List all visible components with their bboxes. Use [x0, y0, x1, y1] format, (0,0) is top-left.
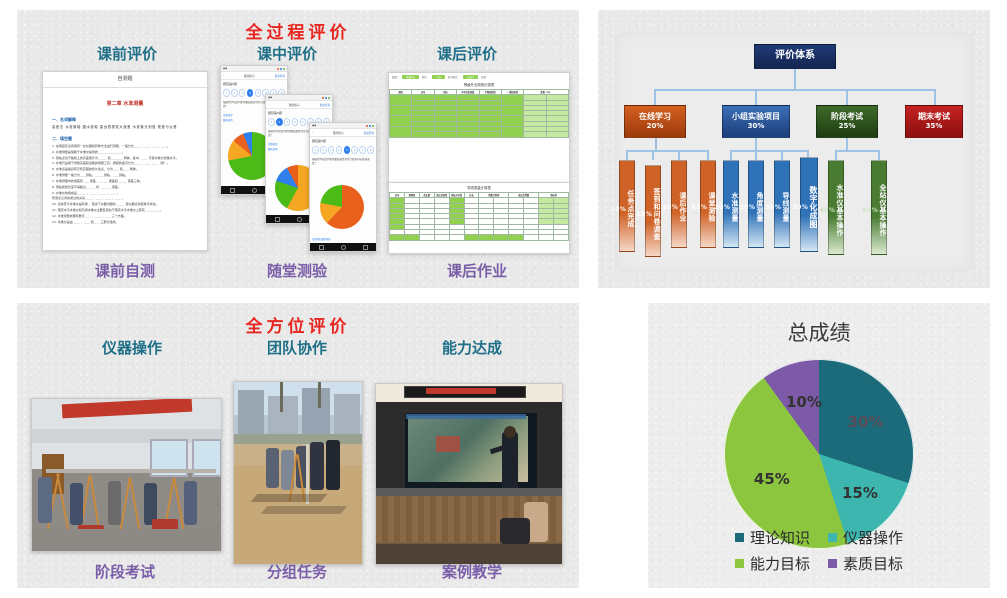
connector-group-d3 [781, 150, 783, 160]
phone-home-key-icon[interactable] [252, 188, 257, 193]
connector-group-stem [755, 138, 757, 150]
node-percent: 10% [663, 205, 679, 211]
node-percent: 25% [839, 122, 856, 131]
subhead-capability-achievement: 能力达成 [392, 337, 552, 358]
option-d[interactable]: 4 [292, 118, 299, 126]
node-percent: 10% [611, 207, 627, 213]
label-pre-class-selftest: 课前自测 [42, 260, 208, 281]
phone-submit-link[interactable]: 提交答卷 [320, 103, 330, 107]
sheet-label-name: 姓名： [422, 75, 429, 79]
node-label: 任务点完成 [626, 190, 634, 228]
legend-item-theory[interactable]: 理论知识 [735, 527, 810, 548]
node-label: 阶段考试 [831, 112, 863, 122]
node-label: 全站仪基本操作 [878, 184, 886, 237]
phone-back-icon[interactable]: ‹ [268, 103, 269, 106]
document-item: 5. 水准点是指具有已知高程的永久性点，分为＿＿ 和＿＿ 两种。 [52, 167, 198, 172]
node-label: 小组实验项目 [732, 112, 780, 122]
phone-option-nums[interactable]: 1 2 3 4 5 6 7 8 [310, 145, 376, 156]
phone-back-key-icon[interactable] [230, 188, 235, 193]
node-percent: 30% [766, 205, 782, 211]
connector-online-d2 [652, 150, 654, 160]
document-item: 8. 测站视线长度不得超过＿＿＿ 米，＿＿＿ 误差。 [52, 185, 198, 190]
option-e[interactable]: 5 [344, 146, 351, 154]
option-e[interactable]: 5 [300, 118, 307, 126]
document-item: 2. 水准测量是借助于水准仪提供的＿＿＿＿＿＿＿＿。 [52, 150, 198, 155]
phone-result-pie-3 [320, 185, 364, 229]
document-item: 所测点之间的通过的关系＿＿ ，＿＿ ，＿＿ ，＿＿ 。 [52, 196, 198, 201]
sheet-value-name[interactable]: 小张 [432, 75, 445, 79]
option-e[interactable]: 5 [255, 89, 262, 97]
option-f[interactable]: 6 [351, 146, 358, 154]
node-label: 角度测量 [755, 192, 763, 222]
label-stage-exam: 阶段考试 [37, 561, 213, 582]
phone-quiz-screen-3[interactable]: ●● ‹ 随堂练习 提交答卷 题目第5题 1 2 3 4 5 6 7 8 根据所… [309, 122, 377, 252]
phone-home-key-icon[interactable] [297, 217, 302, 222]
document-item: 9. 水准仪的组成是＿＿＿ ，＿＿ ，＿＿ ，＿＿ 。 [52, 191, 198, 196]
phone-question-label: 题目第5题 [221, 80, 287, 88]
option-a[interactable]: 1 [223, 89, 230, 97]
legend-row: 理论知识 仪器操作 [735, 527, 903, 548]
node-label: 课后作业 [678, 192, 686, 222]
label-in-class-quiz: 随堂测验 [217, 260, 377, 281]
node-angle-survey[interactable]: 角度测量 20% [748, 160, 764, 248]
node-leveling-survey[interactable]: 水准测量 20% [723, 160, 739, 248]
connector-online-d4 [707, 150, 709, 160]
label-group-task: 分组任务 [217, 561, 377, 582]
connector-online-bus [626, 150, 708, 152]
panel-allround-evaluation: 全方位评价 仪器操作 团队协作 能力达成 [17, 303, 579, 588]
option-c[interactable]: 3 [239, 89, 246, 97]
connector-drop-3 [846, 89, 848, 105]
node-percent: 40% [820, 208, 836, 214]
legend-label: 理论知识 [750, 527, 810, 548]
option-b[interactable]: 2 [276, 118, 283, 126]
sheet-label-date: 日期： [481, 75, 488, 79]
legend-swatch-icon [828, 559, 837, 568]
legend-swatch-icon [828, 533, 837, 542]
connector-group-d2 [755, 150, 757, 160]
panel-process-evaluation: 全过程评价 课前评价 课中评价 课后评价 自测题 第二章 水准测量 一、名词解释… [17, 10, 579, 288]
connector-root-vertical [794, 69, 796, 89]
connector-group-bus [730, 150, 808, 152]
sheet-label-class: 班级： [392, 75, 399, 79]
node-label: 数字化成图 [808, 186, 817, 229]
subhead-pre-class: 课前评价 [47, 43, 207, 64]
document-item: 11. 限定水平水准仪和普通水准仪主要区别在于限定水平水准仪上装有＿＿＿＿＿。 [52, 208, 198, 213]
phone-detail-link[interactable]: 全部测验成绩明细> [312, 237, 331, 241]
option-d[interactable]: 4 [247, 89, 254, 97]
sheet-title-2: 导线测量计算表 [389, 183, 569, 192]
connector-drop-2 [755, 89, 757, 105]
option-b[interactable]: 2 [320, 146, 327, 154]
node-homework[interactable]: 课后作业 10% [671, 160, 687, 248]
node-final-exam[interactable]: 期末考试 35% [905, 105, 963, 138]
phone-nav-bar[interactable]: ‹ 随堂练习 提交答卷 [266, 101, 332, 109]
chart-title: 总成绩 [648, 317, 990, 347]
th: 坐标方位角 [449, 193, 464, 198]
connector-stage-d1 [835, 150, 837, 160]
node-label: 签到和问卷调查 [652, 188, 660, 241]
photo-team-collaboration [233, 381, 363, 565]
option-a[interactable]: 1 [312, 146, 319, 154]
node-label: 水准测量 [730, 192, 738, 222]
document-item: 3. 测站点位于路线上的高差量计为＿＿＿ 和＿＿＿＿ 两种，其中，＿＿ 可使水准… [52, 156, 198, 161]
phone-submit-link[interactable]: 提交答卷 [364, 131, 374, 135]
node-group-experiment[interactable]: 小组实验项目 30% [722, 105, 790, 138]
phone-breadcrumb: 随堂练习 [244, 74, 254, 78]
sheet-label-place: 实习地点： [448, 75, 460, 79]
phone-question-label: 题目第5题 [266, 109, 332, 117]
document-item: 12. 水准测量成果有数字＿＿ 、＿＿ 、＿＿ 三个方面。 [52, 214, 198, 219]
pie-chart [724, 359, 914, 549]
node-root-evaluation-system[interactable]: 评价体系 [754, 44, 836, 69]
node-percent: 20% [647, 122, 664, 131]
node-level-instrument-basic[interactable]: 水准仪基本操作 40% [828, 160, 844, 255]
node-percent: 65% [692, 205, 708, 211]
legend-swatch-icon [735, 533, 744, 542]
connector-stage-d2 [878, 150, 880, 160]
node-percent: 30% [793, 205, 809, 211]
node-traverse-survey[interactable]: 导线测量 30% [774, 160, 790, 248]
pie-slice-label-capability: 45% [754, 470, 790, 488]
phone-recent-key-icon[interactable] [363, 245, 368, 250]
option-g[interactable]: 7 [359, 146, 366, 154]
connector-group-d1 [730, 150, 732, 160]
subhead-instrument-operation: 仪器操作 [47, 337, 217, 358]
phone-nav-footer[interactable] [310, 243, 376, 251]
label-case-teaching: 案例教学 [392, 561, 552, 582]
node-percent: 60% [863, 208, 879, 214]
panel-evaluation-system: 评价体系 在线学习 20% 小组实验项目 30% 阶段考试 25% 期末考试 3… [598, 10, 990, 288]
photo-case-teaching [375, 383, 563, 565]
connector-stage-bus [835, 150, 879, 152]
legend-label: 素质目标 [843, 553, 903, 574]
phone-back-icon[interactable]: ‹ [223, 74, 224, 77]
node-percent: 35% [926, 122, 943, 131]
phone-submit-link[interactable]: 提交答卷 [275, 74, 285, 78]
option-h[interactable]: 8 [367, 146, 374, 154]
connector-online-d3 [678, 150, 680, 160]
node-digital-mapping[interactable]: 数字化成图 30% [800, 157, 818, 252]
document-item: 4. 水准尺是用于测量高差和读数的测量工具，按其构造可分为＿＿、＿＿、＿＿（米）… [52, 161, 198, 166]
phone-nav-bar[interactable]: ‹ 随堂练习 提交答卷 [221, 72, 287, 80]
phone-breadcrumb: 随堂练习 [289, 103, 299, 107]
section-title-process: 全过程评价 [17, 18, 579, 43]
document-item: 13. 水准仪是由 ＿＿ 、＿＿ 和＿＿ 三部分组成。 [52, 220, 198, 225]
node-task-completion[interactable]: 任务点完成 10% [619, 160, 635, 252]
self-test-document[interactable]: 自测题 第二章 水准测量 一、名词解释 高差法 水准管轴 圆水准轴 望远镜视准大… [42, 71, 208, 251]
node-total-station-basic[interactable]: 全站仪基本操作 60% [871, 160, 887, 255]
phone-breadcrumb: 随堂练习 [333, 131, 343, 135]
option-a[interactable]: 1 [268, 118, 275, 126]
spreadsheet-toolbar: 班级： 测量1班 姓名： 小张 实习地点： 山西厅 日期： [389, 73, 569, 80]
node-online-learning[interactable]: 在线学习 20% [624, 105, 686, 138]
panel-total-grade: 总成绩 30% 15% 45% 10% 理论知识 仪器操作 能力目标 素质目标 [648, 303, 990, 588]
node-percent: 30% [748, 122, 765, 131]
phone-back-key-icon[interactable] [319, 245, 324, 250]
pie-slice-label-quality: 10% [786, 393, 822, 411]
connector-stage-stem [846, 138, 848, 150]
sheet-value-place[interactable]: 山西厅 [463, 75, 478, 79]
connector-online-stem [655, 138, 657, 150]
legend-item-quality[interactable]: 素质目标 [828, 553, 903, 574]
legend-row: 能力目标 素质目标 [735, 553, 903, 574]
node-label: 在线学习 [639, 112, 671, 122]
option-c[interactable]: 3 [328, 146, 335, 154]
legend-label: 仪器操作 [843, 527, 903, 548]
node-percent: 20% [715, 205, 731, 211]
legend-label: 能力目标 [750, 553, 810, 574]
label-post-class-homework: 课后作业 [397, 260, 557, 281]
phone-home-key-icon[interactable] [341, 245, 346, 250]
subhead-in-class: 课中评价 [212, 43, 362, 64]
section-title-allround: 全方位评价 [17, 312, 579, 337]
document-item: 10. 自动安平水准仪是利用 ，使读下仪器内部的＿＿＿ 使仪器达到视准平状态。 [52, 202, 198, 207]
connector-level2-horizontal [654, 89, 935, 91]
document-section-blanks: 二、填空题 [52, 136, 198, 142]
subhead-post-class: 课后评价 [387, 43, 547, 64]
node-percent: 20% [740, 205, 756, 211]
sheet-title-1: 等级外业观测记录表 [389, 80, 569, 89]
chart-legend: 理论知识 仪器操作 能力目标 素质目标 [648, 527, 990, 574]
node-label: 导线测量 [781, 192, 789, 222]
document-terms-list: 高差法 水准管轴 圆水准轴 望远镜视准大误差 水准管分划值 视差与仪差 [52, 125, 198, 130]
pie-slice-label-instrument: 15% [842, 484, 878, 502]
spreadsheet-traverse-calc[interactable]: 导线测量计算表 点号观测角改正数改正后角值坐标方位角边长增量计算值改正后增量坐标… [388, 182, 570, 254]
connector-online-d1 [626, 150, 628, 160]
option-b[interactable]: 2 [231, 89, 238, 97]
node-stage-exam[interactable]: 阶段考试 25% [816, 105, 878, 138]
sheet-table-2: 点号观测角改正数改正后角值坐标方位角边长增量计算值改正后增量坐标值 [389, 192, 569, 241]
document-header: 自测题 [43, 72, 207, 88]
phone-question-label: 题目第5题 [310, 137, 376, 145]
sheet-table-1: 测站点号目标水平度盘读数半测回角值一测回角值距离（m） [389, 89, 569, 138]
document-section-terms: 一、名词解释 [52, 117, 198, 123]
evaluation-system-diagram: 评价体系 在线学习 20% 小组实验项目 30% 阶段考试 25% 期末考试 3… [614, 32, 974, 272]
pie-slice-label-theory: 30% [848, 413, 884, 431]
document-item: 1. 在两固定点间用同一台仪器和同样方法进行测量，一般分为＿＿、＿＿、＿＿、＿＿… [52, 144, 198, 149]
node-label: 评价体系 [775, 50, 815, 63]
document-title: 第二章 水准测量 [52, 101, 198, 109]
connector-drop-1 [654, 89, 656, 105]
option-d[interactable]: 4 [336, 146, 343, 154]
node-label: 水准仪基本操作 [835, 184, 843, 237]
spreadsheet-observation-record[interactable]: 班级： 测量1班 姓名： 小张 实习地点： 山西厅 日期： 等级外业观测记录表 … [388, 72, 570, 185]
th: 改正后角值 [434, 193, 449, 198]
document-item: 7. 水准测量中的误差有＿＿ 误差、＿＿＿ 误差和＿＿＿ 误差三种。 [52, 179, 198, 184]
photo-instrument-operation [31, 398, 222, 552]
phone-back-key-icon[interactable] [275, 217, 280, 222]
legend-item-instrument[interactable]: 仪器操作 [828, 527, 903, 548]
node-signin-survey[interactable]: 签到和问卷调查 15% [645, 165, 661, 257]
legend-item-capability[interactable]: 能力目标 [735, 553, 810, 574]
phone-prompt: 根据所学知识判断测量结果是否符合要求的标准描述是？ [310, 156, 376, 168]
phone-back-icon[interactable]: ‹ [312, 131, 313, 134]
node-label: 期末考试 [918, 112, 950, 122]
document-item: 6. 水准测量一般分为＿＿测站、＿＿＿测站、＿＿测站。 [52, 173, 198, 178]
connector-drop-4 [934, 89, 936, 105]
sheet-value-class[interactable]: 测量1班 [402, 75, 419, 79]
node-percent: 15% [637, 212, 653, 218]
phone-nav-bar[interactable]: ‹ 随堂练习 提交答卷 [310, 129, 376, 137]
option-c[interactable]: 3 [284, 118, 291, 126]
subhead-team-collaboration: 团队协作 [217, 337, 377, 358]
legend-swatch-icon [735, 559, 744, 568]
